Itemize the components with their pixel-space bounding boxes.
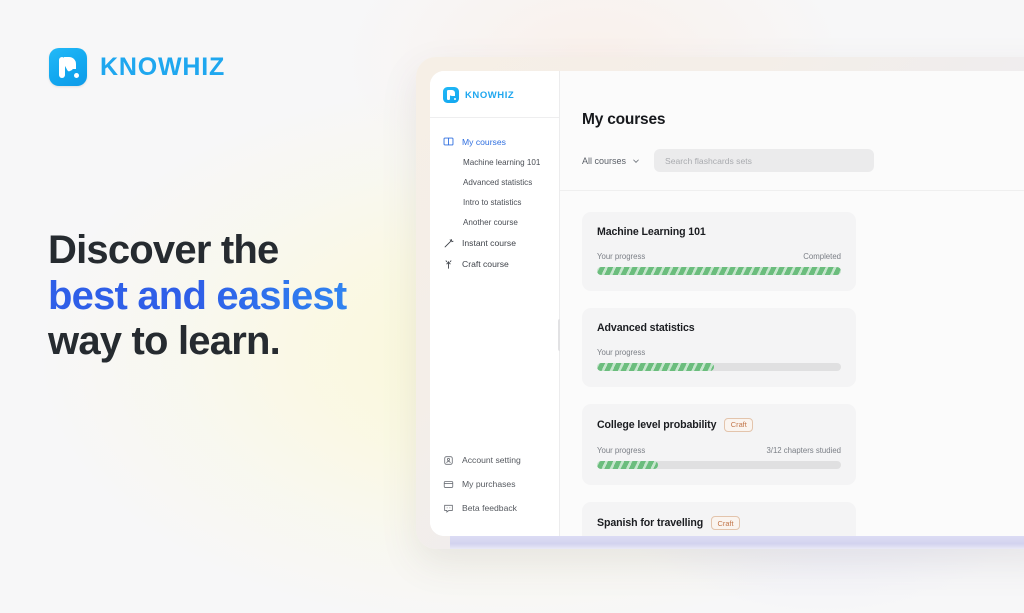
course-filter-label: All courses bbox=[582, 156, 626, 166]
progress-bar-fill bbox=[597, 461, 658, 469]
progress-label: Your progress bbox=[597, 252, 645, 261]
brand-logo: KNOWHIZ bbox=[49, 48, 225, 86]
sidebar-item-instant-course[interactable]: Instant course bbox=[430, 233, 559, 254]
progress-meta: 3/12 chapters studied bbox=[766, 446, 841, 455]
course-card-grid: Machine Learning 101 Your progress Compl… bbox=[582, 191, 1024, 536]
course-card[interactable]: College level probability Craft Your pro… bbox=[582, 404, 856, 485]
sidebar-item-label: Craft course bbox=[462, 259, 509, 269]
main-content: My courses All courses Search flashcards… bbox=[560, 71, 1024, 536]
book-icon bbox=[443, 136, 454, 147]
app-window: KNOWHIZ My courses Machine learning 101 … bbox=[430, 71, 1024, 536]
status-badge: Craft bbox=[711, 516, 740, 530]
sparkle-pen-icon bbox=[443, 259, 454, 270]
brand-wordmark: KNOWHIZ bbox=[100, 53, 225, 82]
course-card-title: Advanced statistics bbox=[597, 322, 695, 334]
search-input[interactable]: Search flashcards sets bbox=[654, 149, 874, 172]
chevron-down-icon bbox=[632, 157, 640, 165]
sidebar-item-craft-course[interactable]: Craft course bbox=[430, 254, 559, 275]
frame-bottom-band bbox=[450, 536, 1024, 549]
account-settings-icon bbox=[443, 455, 454, 466]
sidebar-item-label: Account setting bbox=[462, 455, 521, 465]
sidebar-item-label: Beta feedback bbox=[462, 503, 517, 513]
sidebar-item-my-purchases[interactable]: My purchases bbox=[430, 472, 559, 496]
sidebar-nav: My courses Machine learning 101 Advanced… bbox=[430, 118, 559, 275]
progress-bar bbox=[597, 461, 841, 469]
progress-bar bbox=[597, 363, 841, 371]
progress-bar bbox=[597, 267, 841, 275]
sidebar-item-label: My purchases bbox=[462, 479, 516, 489]
headline-line-2: best and easiest bbox=[48, 274, 398, 320]
sidebar: KNOWHIZ My courses Machine learning 101 … bbox=[430, 71, 560, 536]
knowhiz-logo-icon bbox=[443, 87, 459, 103]
card-title-row: Spanish for travelling Craft bbox=[597, 516, 841, 530]
course-card-title: College level probability bbox=[597, 419, 716, 431]
search-placeholder: Search flashcards sets bbox=[665, 156, 752, 166]
sidebar-bottom-nav: Account setting My purchases bbox=[430, 448, 559, 536]
status-badge: Craft bbox=[724, 418, 753, 432]
page-title: My courses bbox=[582, 111, 1024, 129]
app-window-frame: KNOWHIZ My courses Machine learning 101 … bbox=[416, 57, 1024, 549]
filter-bar: All courses Search flashcards sets bbox=[582, 149, 1024, 172]
course-card-title: Spanish for travelling bbox=[597, 517, 703, 529]
headline-line-3: way to learn. bbox=[48, 319, 398, 365]
course-card-title: Machine Learning 101 bbox=[597, 226, 706, 238]
sidebar-item-account-setting[interactable]: Account setting bbox=[430, 448, 559, 472]
progress-labels: Your progress bbox=[597, 348, 841, 357]
sidebar-item-label: Instant course bbox=[462, 238, 516, 248]
course-card[interactable]: Advanced statistics Your progress bbox=[582, 308, 856, 387]
sidebar-course-another-course[interactable]: Another course bbox=[430, 213, 559, 233]
progress-bar-fill bbox=[597, 363, 714, 371]
feedback-icon bbox=[443, 503, 454, 514]
sidebar-item-label: My courses bbox=[462, 137, 506, 147]
sidebar-item-my-courses[interactable]: My courses bbox=[430, 131, 559, 152]
sidebar-brand: KNOWHIZ bbox=[430, 71, 559, 117]
sidebar-item-beta-feedback[interactable]: Beta feedback bbox=[430, 496, 559, 520]
course-filter-dropdown[interactable]: All courses bbox=[582, 156, 640, 166]
progress-labels: Your progress Completed bbox=[597, 252, 841, 261]
progress-label: Your progress bbox=[597, 446, 645, 455]
card-title-row: College level probability Craft bbox=[597, 418, 841, 432]
progress-label: Your progress bbox=[597, 348, 645, 357]
sidebar-spacer bbox=[430, 275, 559, 448]
promo-headline: Discover the best and easiest way to lea… bbox=[48, 228, 398, 365]
course-card[interactable]: Spanish for travelling Craft Your progre… bbox=[582, 502, 856, 536]
progress-meta: Completed bbox=[803, 252, 841, 261]
headline-line-1: Discover the bbox=[48, 228, 398, 274]
sidebar-course-intro-to-statistics[interactable]: Intro to statistics bbox=[430, 192, 559, 212]
sidebar-brand-label: KNOWHIZ bbox=[465, 90, 514, 101]
sidebar-course-machine-learning-101[interactable]: Machine learning 101 bbox=[430, 152, 559, 172]
sidebar-course-advanced-statistics[interactable]: Advanced statistics bbox=[430, 172, 559, 192]
card-title-row: Machine Learning 101 bbox=[597, 226, 841, 238]
knowhiz-logo-icon bbox=[49, 48, 87, 86]
course-card[interactable]: Machine Learning 101 Your progress Compl… bbox=[582, 212, 856, 291]
progress-labels: Your progress 3/12 chapters studied bbox=[597, 446, 841, 455]
magic-wand-icon bbox=[443, 238, 454, 249]
card-title-row: Advanced statistics bbox=[597, 322, 841, 334]
progress-bar-fill bbox=[597, 267, 841, 275]
promo-column: KNOWHIZ Discover the best and easiest wa… bbox=[0, 0, 420, 613]
card-icon bbox=[443, 479, 454, 490]
